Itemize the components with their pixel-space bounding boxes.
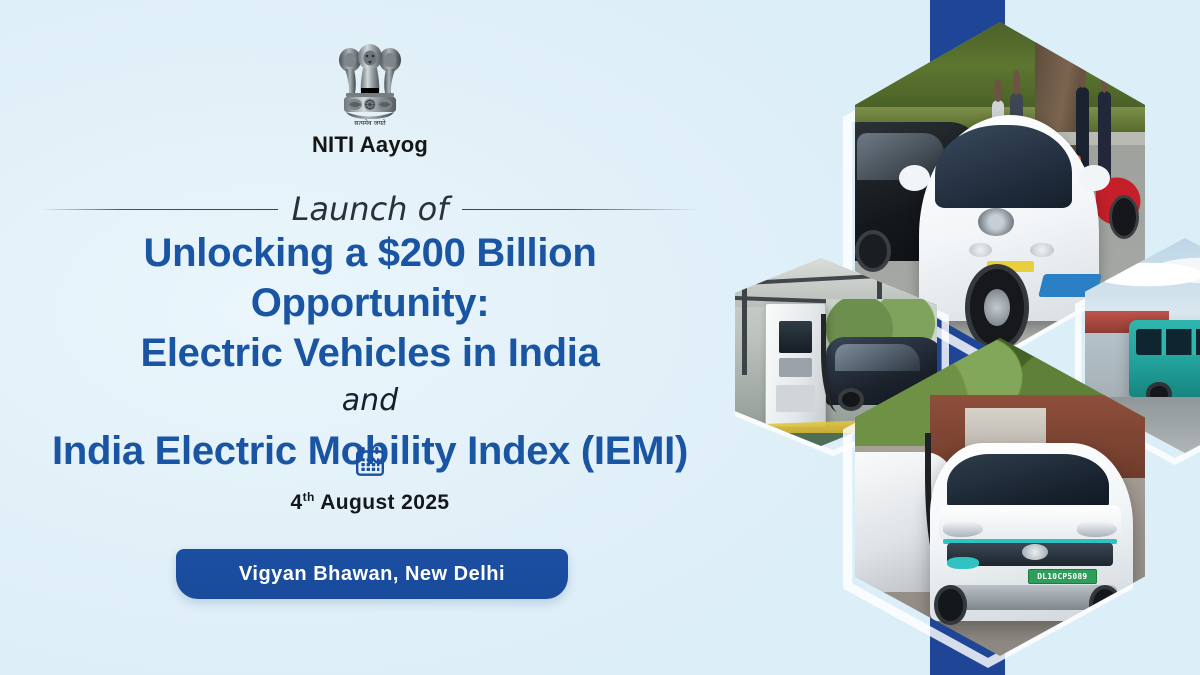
nexon-ev-body: DL10CP5089 bbox=[930, 443, 1133, 621]
venue-label: Vigyan Bhawan, New Delhi bbox=[239, 563, 505, 586]
front-wheel bbox=[965, 264, 1029, 350]
title-connector: and bbox=[20, 378, 720, 424]
emblem-motto-text: सत्यमेव जयते bbox=[354, 119, 386, 126]
eyebrow-label: Launch of bbox=[292, 190, 449, 228]
teal-electric-bus bbox=[1129, 320, 1200, 397]
charging-unit bbox=[765, 303, 825, 427]
page-title: Unlocking a $200 Billion Opportunity: El… bbox=[20, 228, 720, 478]
event-date-day: 4 bbox=[291, 491, 303, 514]
title-line-2: Electric Vehicles in India bbox=[20, 328, 720, 378]
event-date: 4th August 2025 bbox=[0, 490, 740, 515]
ashoka-lion-capital-emblem: सत्यमेव जयते bbox=[337, 44, 403, 126]
content-column: सत्यमेव जयते NITI Aayog Launch of Unlock… bbox=[0, 0, 740, 675]
event-date-ordinal: th bbox=[303, 490, 315, 504]
event-date-rest: August 2025 bbox=[315, 491, 450, 514]
title-line-1: Unlocking a $200 Billion Opportunity: bbox=[20, 228, 720, 328]
bus-windows bbox=[1136, 329, 1200, 355]
windscreen bbox=[947, 454, 1109, 507]
teal-fog-lamp-surround bbox=[947, 557, 979, 569]
calendar-icon bbox=[355, 446, 385, 477]
organization-name: NITI Aayog bbox=[0, 132, 740, 158]
organization-identity: सत्यमेव जयते NITI Aayog bbox=[0, 44, 740, 158]
front-left-tire bbox=[934, 585, 966, 624]
charger-screen bbox=[779, 321, 812, 353]
green-number-plate: DL10CP5089 bbox=[1028, 569, 1097, 583]
number-plate-text: DL10CP5089 bbox=[1037, 572, 1087, 581]
eyebrow-row: Launch of bbox=[40, 190, 700, 228]
event-date-block: 4th August 2025 bbox=[0, 446, 740, 515]
poster-canvas: DL10CP5089 bbox=[0, 0, 1200, 675]
venue-banner: Vigyan Bhawan, New Delhi bbox=[176, 549, 568, 599]
divider-left bbox=[40, 209, 278, 210]
divider-right bbox=[462, 209, 700, 210]
photo-collage: DL10CP5089 bbox=[735, 0, 1200, 675]
